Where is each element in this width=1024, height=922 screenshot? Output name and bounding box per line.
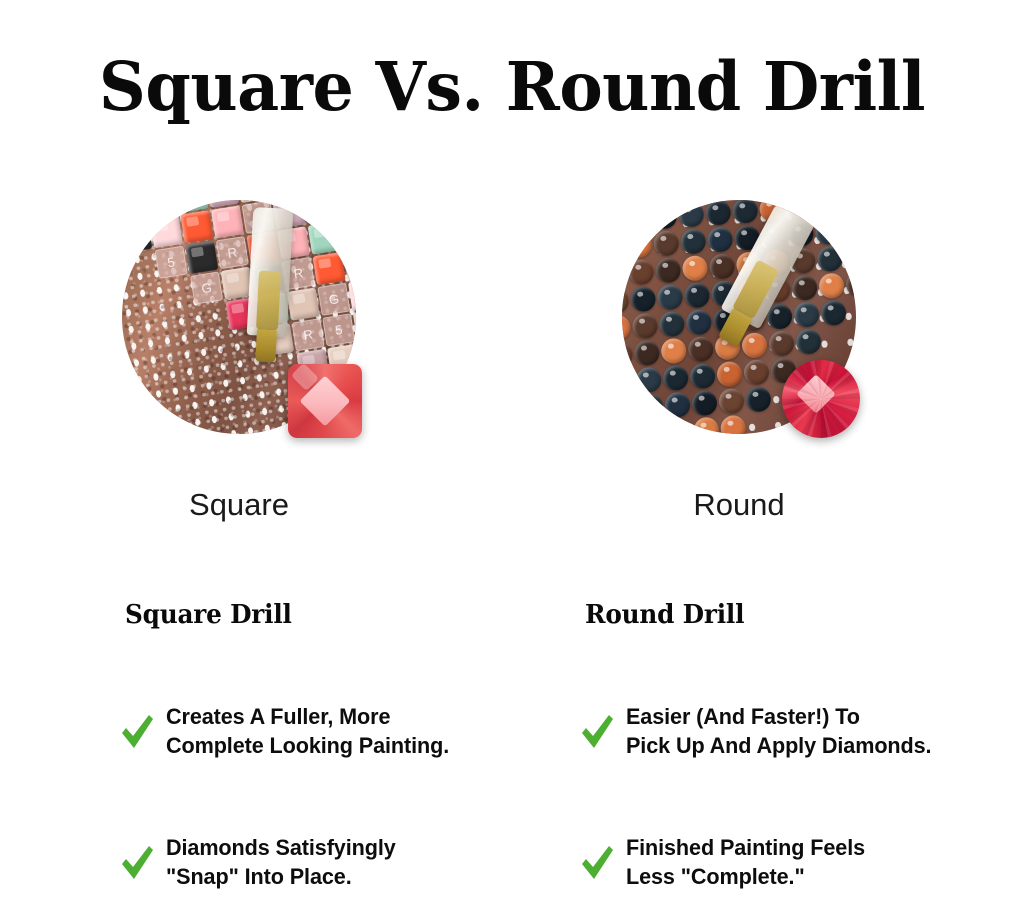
round-drill-bead [793, 301, 820, 328]
check-mark-icon [120, 711, 154, 751]
round-drill-bead [743, 359, 770, 386]
list-item-label: Diamonds Satisfyingly "Snap" Into Place. [166, 833, 396, 892]
square-drill-bead [338, 217, 356, 250]
round-drill-bead [635, 366, 662, 393]
pen-wax [256, 271, 281, 331]
square-drill-bead: R [216, 236, 249, 269]
round-drill-bead [820, 299, 847, 326]
check-mark-icon [120, 842, 154, 882]
round-drill-bead [841, 217, 856, 244]
round-drill-bead [687, 336, 714, 363]
round-drill-bead [633, 340, 660, 367]
square-drill-bead: 5 [155, 246, 188, 279]
square-drill-bead [180, 210, 213, 243]
round-drill-bead [624, 205, 651, 232]
round-drill-column: Round Drill Easier (And Faster!) To Pick… [580, 600, 1000, 892]
square-drill-bead [308, 221, 341, 254]
list-item: Finished Painting Feels Less "Complete." [580, 833, 1000, 892]
square-drill-bead: G [317, 283, 350, 316]
square-photo-caption: Square [122, 487, 356, 523]
round-drill-bead [660, 338, 687, 365]
round-drill-bead [814, 219, 841, 246]
square-drill-bead [129, 281, 162, 314]
square-drill-bead [122, 220, 152, 253]
round-drill-bead [622, 234, 626, 261]
round-drill-bead [822, 326, 849, 353]
round-drill-bead [637, 393, 664, 420]
round-drill-bead [813, 200, 840, 218]
square-drill-bead: 5 [343, 247, 356, 280]
applicator-pen-icon [247, 207, 294, 337]
square-drill-bead: G [122, 200, 147, 222]
square-drill-bead [209, 394, 242, 427]
square-drill-bead [200, 333, 233, 366]
list-item: Easier (And Faster!) To Pick Up And Appl… [580, 702, 1000, 761]
round-drill-bead [745, 386, 772, 413]
square-photo-wrap: GAR5AG5RAGR5GAR5AG5RAGR5 [122, 200, 356, 434]
round-drill-bead [791, 274, 818, 301]
round-drill-bead [707, 226, 734, 253]
round-drill-bead [682, 255, 709, 282]
round-drill-bead [689, 363, 716, 390]
round-drill-bead [622, 200, 649, 205]
square-drill-bead [205, 363, 238, 396]
square-drill-bead [240, 389, 273, 422]
round-drill-bead [622, 288, 629, 315]
round-drill-bead [709, 253, 736, 280]
round-drill-bead [718, 388, 745, 415]
square-drill-bead [287, 288, 320, 321]
square-drill-bead [169, 338, 202, 371]
round-drill-bead [664, 392, 691, 419]
round-red-gem-icon [782, 360, 860, 438]
list-item: Creates A Fuller, More Complete Looking … [120, 702, 540, 761]
round-drill-bead [622, 422, 639, 434]
round-drill-bead [845, 271, 856, 298]
round-photo-caption: Round [622, 487, 856, 523]
square-drill-bead [159, 276, 192, 309]
round-drill-bead [678, 201, 705, 228]
round-drill-bead [622, 341, 633, 368]
page-title: Square Vs. Round Drill [15, 52, 1008, 122]
round-drill-bead [622, 207, 624, 234]
round-drill-bead [628, 259, 655, 286]
round-drill-bead [653, 230, 680, 257]
round-drill-bead [741, 332, 768, 359]
round-drill-bead [659, 311, 686, 338]
square-drill-bead [303, 200, 336, 224]
square-drill-column: Square Drill Creates A Fuller, More Comp… [120, 600, 540, 892]
square-drill-bead [185, 241, 218, 274]
list-item-label: Easier (And Faster!) To Pick Up And Appl… [626, 702, 931, 761]
round-drill-bead [657, 284, 684, 311]
round-drill-bead [649, 200, 676, 203]
round-drill-bead [795, 328, 822, 355]
round-drill-bead [662, 365, 689, 392]
round-drill-bead [816, 246, 843, 273]
list-item-label: Finished Painting Feels Less "Complete." [626, 833, 865, 892]
square-drill-bead [333, 200, 356, 219]
square-drill-bead [138, 342, 171, 375]
square-drill-bead [235, 358, 268, 391]
round-drill-bead [622, 368, 635, 395]
round-drill-bead [622, 261, 628, 288]
round-drill-bead [685, 309, 712, 336]
square-drill-bead: R [292, 318, 325, 351]
square-drill-bead [148, 404, 181, 434]
round-drill-bead [843, 244, 856, 271]
round-drill-heading: Round Drill [585, 600, 979, 630]
round-drill-bead [849, 324, 856, 351]
round-drill-bead [632, 313, 659, 340]
round-drill-bead [716, 361, 743, 388]
round-drill-bead [651, 203, 678, 230]
square-drill-bead [124, 251, 157, 284]
square-drill-bead [143, 373, 176, 406]
list-item-label: Creates A Fuller, More Complete Looking … [166, 702, 449, 761]
square-drill-bead [195, 302, 228, 335]
round-photo-wrap [622, 200, 856, 434]
square-drill-bead [179, 399, 212, 432]
round-drill-bead [626, 232, 653, 259]
square-drill-bead [312, 252, 345, 285]
square-drill-bead [211, 205, 244, 238]
round-drill-bead [747, 413, 774, 434]
round-drill-bead [818, 272, 845, 299]
pen-tip [256, 329, 277, 362]
square-drill-bead: G [190, 271, 223, 304]
square-drill-bead [134, 312, 167, 345]
round-drill-bead [639, 420, 666, 434]
square-drill-heading: Square Drill [125, 600, 519, 630]
round-drill-bead [840, 200, 856, 216]
square-drill-bead [245, 420, 278, 434]
round-drill-bead [705, 200, 732, 226]
square-drill-bead [150, 215, 183, 248]
round-drill-bead [684, 282, 711, 309]
square-drill-bead [164, 307, 197, 340]
round-drill-bead [655, 257, 682, 284]
round-drill-bead [680, 228, 707, 255]
round-drill-bead [630, 286, 657, 313]
comparison-photos: GAR5AG5RAGR5GAR5AG5RAGR5 [0, 200, 1024, 445]
round-drill-bead [768, 330, 795, 357]
round-drill-bead [691, 390, 718, 417]
square-drill-bead: 5 [322, 313, 355, 346]
square-drill-bead [174, 368, 207, 401]
round-drill-bead [693, 417, 720, 434]
square-red-gem-icon [288, 364, 362, 438]
round-drill-bead [720, 415, 747, 434]
round-drill-bead [676, 200, 703, 201]
check-mark-icon [580, 711, 614, 751]
round-drill-bead [847, 298, 856, 325]
list-item: Diamonds Satisfyingly "Snap" Into Place. [120, 833, 540, 892]
round-drill-bead [622, 314, 631, 341]
round-drill-bead [622, 395, 637, 422]
round-drill-bead [666, 418, 693, 434]
round-drill-bead [732, 200, 759, 224]
check-mark-icon [580, 842, 614, 882]
